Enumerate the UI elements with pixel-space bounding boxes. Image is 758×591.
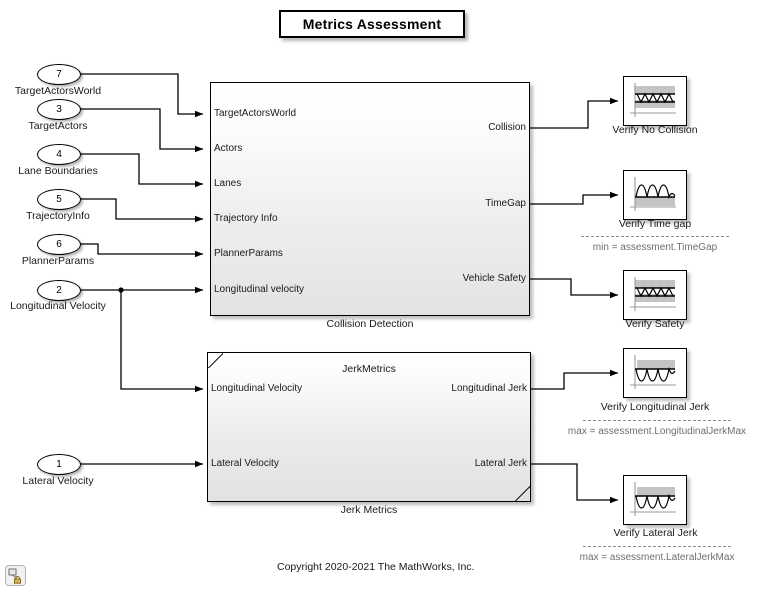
caption-verify-lateral-jerk: Verify Lateral Jerk <box>578 527 733 539</box>
block-verify-longitudinal-jerk[interactable] <box>623 348 687 398</box>
cd-output-label-collision: Collision <box>400 122 526 133</box>
inport-label-longitudinal-velocity: Longitudinal Velocity <box>0 300 116 312</box>
inport-label-trajectoryinfo: TrajectoryInfo <box>0 210 116 222</box>
cd-output-label-vehicle-safety: Vehicle Safety <box>400 273 526 284</box>
annotation-text-time-gap: min = assessment.TimeGap <box>575 242 735 253</box>
corner-cut-bottom-right-icon <box>515 486 530 501</box>
inport-label-lane-boundaries: Lane Boundaries <box>0 165 116 177</box>
annotation-verify-time-gap: min = assessment.TimeGap <box>575 236 735 253</box>
inport-label-plannerparams: PlannerParams <box>0 255 116 267</box>
inport-label-targetactors: TargetActors <box>0 120 116 132</box>
lock-badge-button[interactable] <box>5 565 26 586</box>
inport-number: 2 <box>56 285 62 296</box>
block-verify-no-collision[interactable] <box>623 76 687 126</box>
inport-number: 1 <box>56 459 62 470</box>
inport-plannerparams[interactable]: 6 <box>37 234 81 255</box>
assert-band-zigzag-icon <box>624 77 684 123</box>
cd-input-label-trajectory-info: Trajectory Info <box>214 213 278 224</box>
jerk-metrics-inner-title: JerkMetrics <box>207 363 531 375</box>
simulink-canvas: Metrics Assessment 7 TargetActorsWorld 3… <box>0 0 758 591</box>
annotation-divider <box>583 546 731 547</box>
block-verify-safety[interactable] <box>623 270 687 320</box>
cd-input-label-lanes: Lanes <box>214 178 241 189</box>
lock-icon <box>6 566 25 585</box>
inport-number: 5 <box>56 194 62 205</box>
inport-number: 7 <box>56 69 62 80</box>
block-verify-lateral-jerk[interactable] <box>623 475 687 525</box>
inport-label-targetactorsworld: TargetActorsWorld <box>0 85 116 97</box>
inport-targetactorsworld[interactable]: 7 <box>37 64 81 85</box>
inport-longitudinal-velocity[interactable]: 2 <box>37 280 81 301</box>
cd-output-label-timegap: TimeGap <box>400 198 526 209</box>
block-caption-collision-detection: Collision Detection <box>210 318 530 330</box>
caption-verify-longitudinal-jerk: Verify Longitudinal Jerk <box>570 401 740 413</box>
inport-number: 6 <box>56 239 62 250</box>
cd-input-label-targetactorsworld: TargetActorsWorld <box>214 108 296 119</box>
annotation-verify-longitudinal-jerk: max = assessment.LongitudinalJerkMax <box>557 420 757 437</box>
cd-input-label-plannerparams: PlannerParams <box>214 248 283 259</box>
annotation-text-lateral-jerk: max = assessment.LateralJerkMax <box>562 552 752 563</box>
copyright-annotation: Copyright 2020-2021 The MathWorks, Inc. <box>277 561 474 573</box>
inport-number: 4 <box>56 149 62 160</box>
annotation-divider <box>583 420 731 421</box>
assert-band-zigzag-icon <box>624 271 684 317</box>
jerk-input-label-lateral-velocity: Lateral Velocity <box>211 458 279 469</box>
inport-targetactors[interactable]: 3 <box>37 99 81 120</box>
annotation-text-longitudinal-jerk: max = assessment.LongitudinalJerkMax <box>557 426 757 437</box>
inport-label-lateral-velocity: Lateral Velocity <box>0 475 116 487</box>
inport-trajectoryinfo[interactable]: 5 <box>37 189 81 210</box>
caption-verify-no-collision: Verify No Collision <box>580 124 730 136</box>
block-verify-time-gap[interactable] <box>623 170 687 220</box>
cd-input-label-actors: Actors <box>214 143 242 154</box>
block-caption-jerk-metrics: Jerk Metrics <box>207 504 531 516</box>
model-title-annotation: Metrics Assessment <box>279 10 465 38</box>
caption-verify-safety: Verify Safety <box>580 318 730 330</box>
jerk-output-label-longitudinal-jerk: Longitudinal Jerk <box>397 383 527 394</box>
annotation-divider <box>581 236 729 237</box>
caption-verify-time-gap: Verify Time gap <box>580 218 730 230</box>
inport-number: 3 <box>56 104 62 115</box>
annotation-verify-lateral-jerk: max = assessment.LateralJerkMax <box>562 546 752 563</box>
assert-lower-bound-sine-icon <box>624 171 684 217</box>
jerk-output-label-lateral-jerk: Lateral Jerk <box>397 458 527 469</box>
inport-lateral-velocity[interactable]: 1 <box>37 454 81 475</box>
inport-lane-boundaries[interactable]: 4 <box>37 144 81 165</box>
jerk-input-label-longitudinal-velocity: Longitudinal Velocity <box>211 383 302 394</box>
cd-input-label-longitudinal-velocity: Longitudinal velocity <box>214 284 304 295</box>
assert-upper-bound-sine-icon <box>624 476 684 522</box>
model-title-text: Metrics Assessment <box>303 16 441 32</box>
assert-upper-bound-sine-icon <box>624 349 684 395</box>
